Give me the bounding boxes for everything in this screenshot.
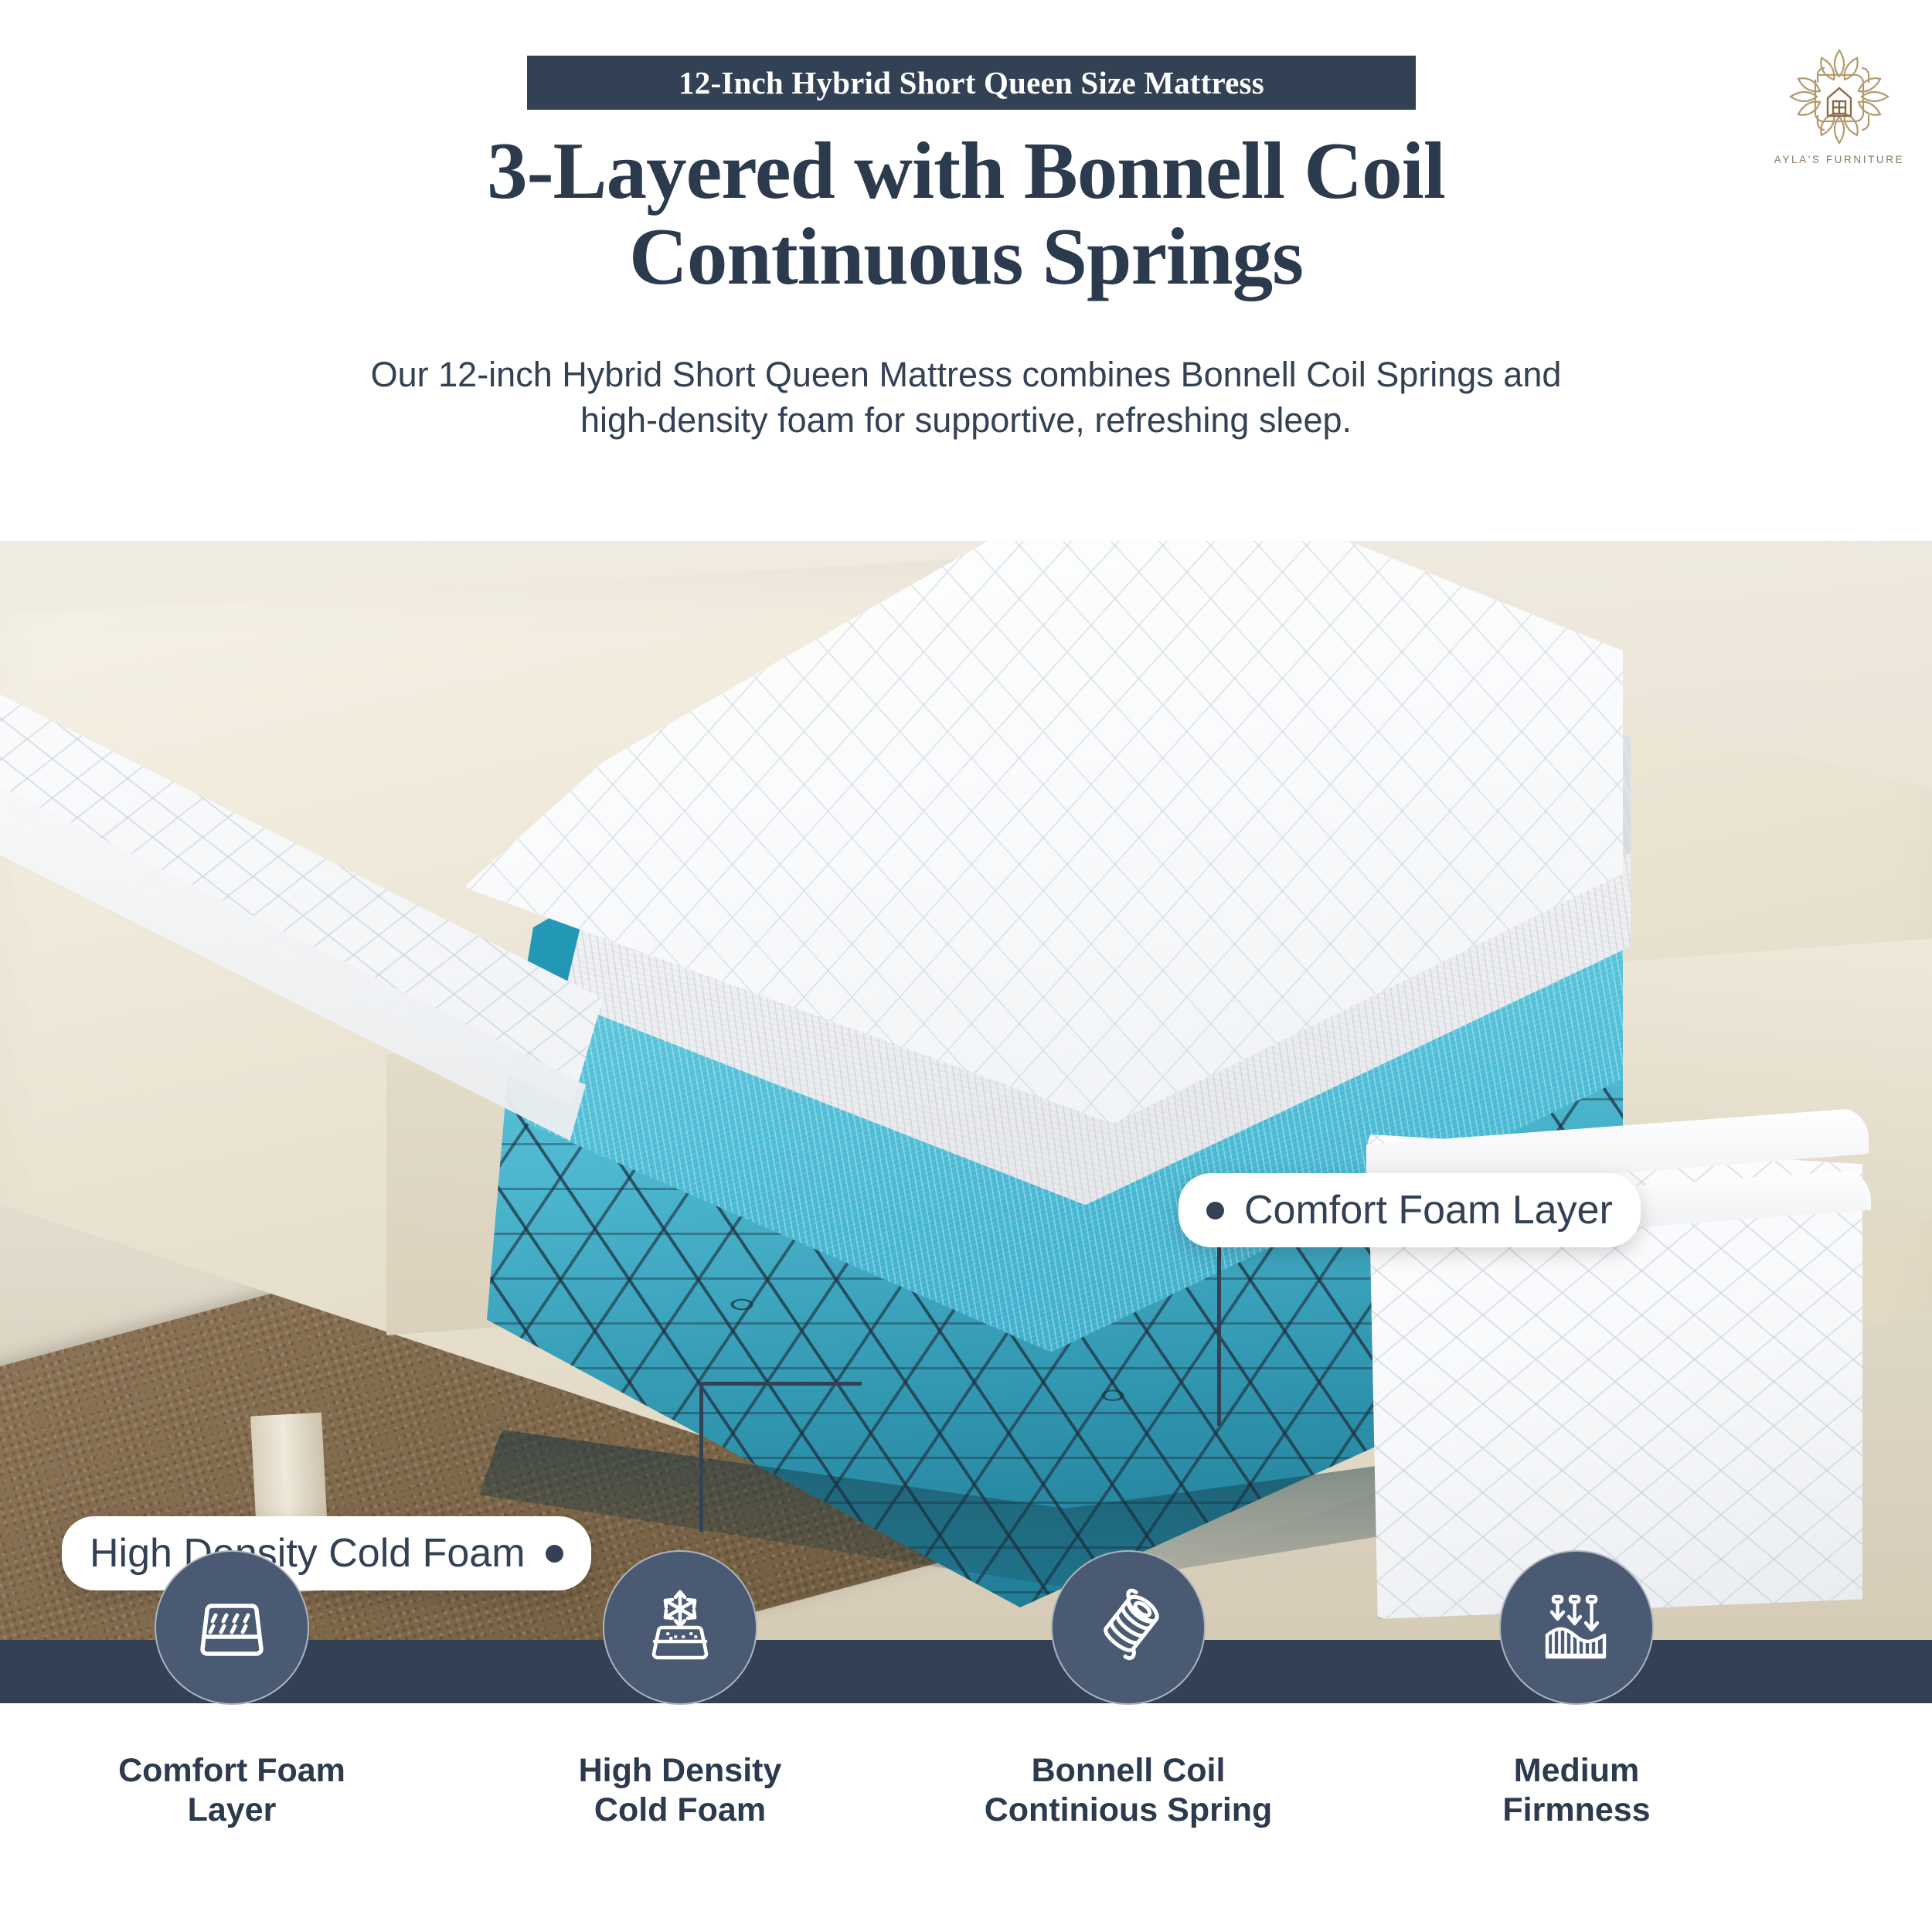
feature-label-line-1: Medium [1502, 1751, 1650, 1791]
callout-label: High Density Cold Foam [90, 1530, 526, 1577]
snowflake-mattress-icon [637, 1584, 723, 1671]
leader-dot-icon [1206, 1202, 1224, 1219]
feature-row: Comfort Foam Layer [0, 1703, 1932, 1932]
header: 12-Inch Hybrid Short Queen Size Mattress… [0, 0, 1932, 541]
feature-label: Comfort Foam Layer [118, 1751, 345, 1829]
product-badge-label: 12-Inch Hybrid Short Queen Size Mattress [679, 64, 1264, 101]
feature-item-comfort-foam-layer: Comfort Foam Layer [70, 1703, 394, 1829]
subtitle-line-1: Our 12-inch Hybrid Short Queen Mattress … [232, 352, 1700, 397]
feature-item-medium-firmness: Medium Firmness [1414, 1703, 1739, 1829]
leader-dot-icon [546, 1545, 563, 1563]
mattress-foam-block-icon [189, 1584, 275, 1671]
coil-spring-icon [1085, 1584, 1172, 1671]
feature-label-line-1: High Density [579, 1751, 782, 1791]
subtitle-line-2: high-density foam for supportive, refres… [232, 397, 1700, 443]
headline-line-2: Continuous Springs [193, 213, 1739, 299]
feature-icon-circle [1499, 1550, 1654, 1705]
feature-label: Bonnell Coil Continious Spring [985, 1751, 1273, 1829]
feature-label-line-1: Bonnell Coil [985, 1751, 1273, 1791]
feature-label-line-2: Continious Spring [985, 1791, 1273, 1830]
ornate-leaf-house-emblem-icon [1781, 43, 1897, 151]
product-photo: Comfort Foam Layer High Density Cold Foa… [0, 541, 1932, 1704]
feature-icon-circle [155, 1550, 309, 1705]
leader-line-comfort-foam [1217, 1240, 1221, 1426]
callout-label: Comfort Foam Layer [1244, 1187, 1613, 1233]
leader-line-cold-foam-vertical [699, 1383, 703, 1532]
firmness-arrows-icon [1533, 1584, 1620, 1671]
page-subtitle: Our 12-inch Hybrid Short Queen Mattress … [232, 352, 1700, 444]
callout-comfort-foam-layer: Comfort Foam Layer [1179, 1173, 1641, 1247]
feature-label-line-2: Layer [118, 1791, 345, 1830]
feature-label: High Density Cold Foam [579, 1751, 782, 1829]
feature-label-line-2: Cold Foam [579, 1791, 782, 1830]
product-badge: 12-Inch Hybrid Short Queen Size Mattress [527, 56, 1416, 110]
feature-label-line-2: Firmness [1502, 1791, 1650, 1830]
page-title: 3-Layered with Bonnell Coil Continuous S… [193, 128, 1739, 300]
brand-name: AYLA'S FURNITURE [1774, 154, 1904, 165]
leader-line-cold-foam-horizontal [699, 1382, 862, 1386]
brand-logo: AYLA'S FURNITURE [1777, 43, 1901, 170]
feature-item-high-density-cold-foam: High Density Cold Foam [518, 1703, 842, 1829]
feature-icon-circle [1051, 1550, 1206, 1705]
feature-icon-circle [603, 1550, 757, 1705]
feature-label: Medium Firmness [1502, 1751, 1650, 1829]
callout-high-density-cold-foam: High Density Cold Foam [62, 1516, 591, 1590]
headline-line-1: 3-Layered with Bonnell Coil [193, 128, 1739, 213]
feature-label-line-1: Comfort Foam [118, 1751, 345, 1791]
feature-item-bonnell-coil-spring: Bonnell Coil Continious Spring [966, 1703, 1291, 1829]
